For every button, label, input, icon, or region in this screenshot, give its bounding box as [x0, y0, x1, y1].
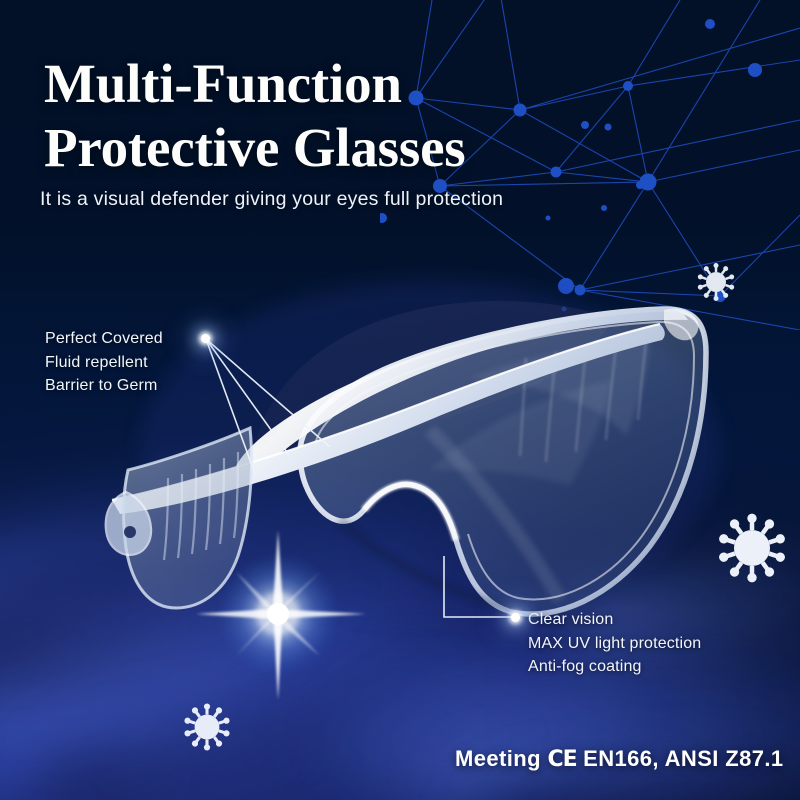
ce-mark-icon: CE	[547, 747, 576, 772]
virus-icon	[718, 514, 786, 583]
callout-right-text: Clear vision MAX UV light protection Ant…	[528, 608, 701, 679]
product-poster: Multi-Function Protective Glasses It is …	[0, 0, 800, 800]
page-title: Multi-Function Protective Glasses	[44, 52, 466, 181]
callout-left-text: Perfect Covered Fluid repellent Barrier …	[45, 327, 163, 398]
certification-standards: EN166, ANSI Z87.1	[583, 746, 783, 771]
virus-icon	[184, 703, 231, 750]
page-subtitle: It is a visual defender giving your eyes…	[40, 188, 503, 211]
callout-left-marker-dot	[201, 334, 210, 343]
certification-prefix: Meeting	[455, 746, 541, 771]
certification-line: Meeting CE EN166, ANSI Z87.1	[455, 746, 784, 772]
virus-icon	[697, 263, 735, 301]
callout-right-marker-dot	[511, 613, 520, 622]
